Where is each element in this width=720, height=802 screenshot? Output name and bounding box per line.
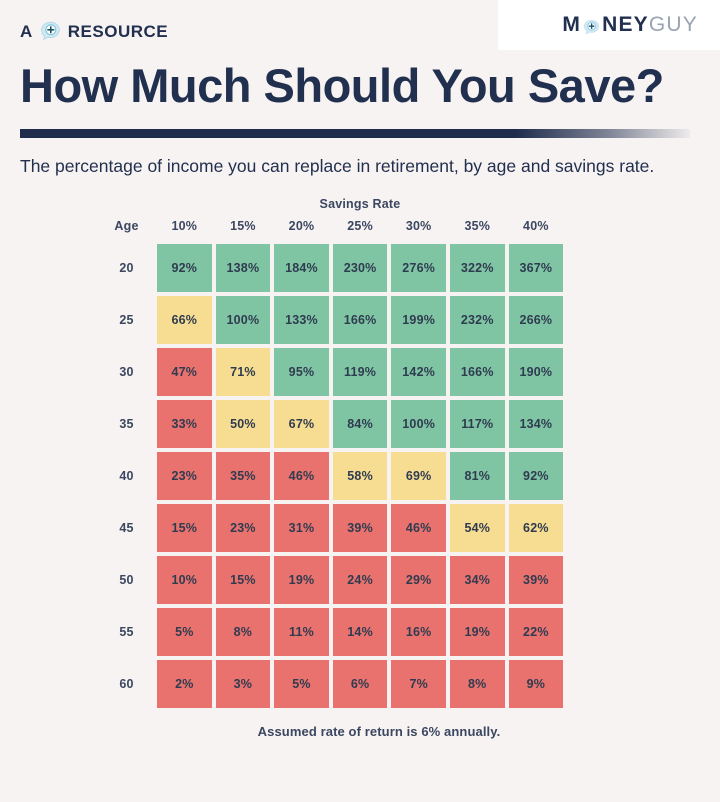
heatmap-cell: 39% xyxy=(507,554,566,606)
resource-tag-a: A xyxy=(20,22,33,42)
heatmap-cell: 232% xyxy=(448,294,507,346)
heatmap-cell: 24% xyxy=(331,554,390,606)
row-header-age-50: 50 xyxy=(98,554,155,606)
brand-letters-ney: NEY xyxy=(602,13,649,37)
heatmap-cell: 5% xyxy=(155,606,214,658)
heatmap-cell: 100% xyxy=(389,398,448,450)
heatmap-cell: 100% xyxy=(214,294,273,346)
heatmap-cell: 50% xyxy=(214,398,273,450)
heatmap-cell: 69% xyxy=(389,450,448,502)
heatmap-grid: Age10%15%20%25%30%35%40%2092%138%184%230… xyxy=(98,219,720,710)
page-subtitle: The percentage of income you can replace… xyxy=(20,155,680,179)
heatmap-cell: 47% xyxy=(155,346,214,398)
title-divider xyxy=(20,129,690,138)
heatmap-cell: 133% xyxy=(272,294,331,346)
heatmap-cell: 8% xyxy=(214,606,273,658)
savings-heatmap: Savings Rate Age10%15%20%25%30%35%40%209… xyxy=(0,197,720,739)
column-header-25: 25% xyxy=(331,219,390,242)
heatmap-cell: 322% xyxy=(448,242,507,294)
heatmap-cell: 6% xyxy=(331,658,390,710)
heatmap-cell: 11% xyxy=(272,606,331,658)
heatmap-cell: 46% xyxy=(272,450,331,502)
row-header-age-40: 40 xyxy=(98,450,155,502)
heatmap-cell: 166% xyxy=(331,294,390,346)
savings-rate-axis-label: Savings Rate xyxy=(155,197,565,211)
heatmap-cell: 184% xyxy=(272,242,331,294)
column-header-40: 40% xyxy=(507,219,566,242)
row-header-age-35: 35 xyxy=(98,398,155,450)
heatmap-cell: 15% xyxy=(214,554,273,606)
brand-letter-m: M xyxy=(562,13,581,37)
column-header-30: 30% xyxy=(389,219,448,242)
heatmap-cell: 19% xyxy=(272,554,331,606)
heatmap-cell: 23% xyxy=(155,450,214,502)
resource-tag-label: RESOURCE xyxy=(68,22,168,42)
heatmap-cell: 39% xyxy=(331,502,390,554)
heatmap-cell: 142% xyxy=(389,346,448,398)
column-header-35: 35% xyxy=(448,219,507,242)
heatmap-cell: 2% xyxy=(155,658,214,710)
heatmap-cell: 230% xyxy=(331,242,390,294)
heatmap-cell: 29% xyxy=(389,554,448,606)
row-header-age-25: 25 xyxy=(98,294,155,346)
heatmap-cell: 33% xyxy=(155,398,214,450)
heatmap-cell: 134% xyxy=(507,398,566,450)
heatmap-cell: 190% xyxy=(507,346,566,398)
heatmap-cell: 367% xyxy=(507,242,566,294)
heatmap-cell: 166% xyxy=(448,346,507,398)
heatmap-cell: 119% xyxy=(331,346,390,398)
row-header-age-45: 45 xyxy=(98,502,155,554)
column-header-age: Age xyxy=(98,219,155,242)
heatmap-cell: 71% xyxy=(214,346,273,398)
moneyguy-logo[interactable]: M NEY GUY xyxy=(562,13,698,37)
heatmap-cell: 10% xyxy=(155,554,214,606)
heatmap-cell: 92% xyxy=(507,450,566,502)
heatmap-cell: 276% xyxy=(389,242,448,294)
heatmap-cell: 31% xyxy=(272,502,331,554)
heatmap-cell: 34% xyxy=(448,554,507,606)
a-resource-tag: A RESOURCE xyxy=(20,20,168,43)
heatmap-cell: 23% xyxy=(214,502,273,554)
row-header-age-30: 30 xyxy=(98,346,155,398)
heatmap-cell: 9% xyxy=(507,658,566,710)
heatmap-cell: 266% xyxy=(507,294,566,346)
heatmap-cell: 58% xyxy=(331,450,390,502)
heatmap-cell: 67% xyxy=(272,398,331,450)
brand-letters-guy: GUY xyxy=(649,13,698,37)
heatmap-cell: 19% xyxy=(448,606,507,658)
heatmap-cell: 7% xyxy=(389,658,448,710)
heatmap-cell: 95% xyxy=(272,346,331,398)
heatmap-cell: 8% xyxy=(448,658,507,710)
column-header-15: 15% xyxy=(214,219,273,242)
heatmap-cell: 15% xyxy=(155,502,214,554)
row-header-age-60: 60 xyxy=(98,658,155,710)
heatmap-cell: 54% xyxy=(448,502,507,554)
page-title: How Much Should You Save? xyxy=(0,56,720,111)
row-header-age-20: 20 xyxy=(98,242,155,294)
heatmap-cell: 199% xyxy=(389,294,448,346)
heatmap-cell: 14% xyxy=(331,606,390,658)
heatmap-cell: 92% xyxy=(155,242,214,294)
heatmap-cell: 22% xyxy=(507,606,566,658)
page-header: A RESOURCE M NEY GUY xyxy=(0,0,720,56)
heatmap-cell: 117% xyxy=(448,398,507,450)
heatmap-cell: 46% xyxy=(389,502,448,554)
column-header-20: 20% xyxy=(272,219,331,242)
row-header-age-55: 55 xyxy=(98,606,155,658)
column-header-10: 10% xyxy=(155,219,214,242)
heatmap-cell: 16% xyxy=(389,606,448,658)
heatmap-cell: 66% xyxy=(155,294,214,346)
heatmap-cell: 3% xyxy=(214,658,273,710)
heatmap-cell: 138% xyxy=(214,242,273,294)
chart-footnote: Assumed rate of return is 6% annually. xyxy=(98,724,720,739)
heatmap-cell: 62% xyxy=(507,502,566,554)
money-guy-o-icon xyxy=(582,18,601,37)
heatmap-cell: 5% xyxy=(272,658,331,710)
heatmap-cell: 81% xyxy=(448,450,507,502)
speech-bubble-plus-icon xyxy=(39,20,62,43)
heatmap-cell: 84% xyxy=(331,398,390,450)
heatmap-cell: 35% xyxy=(214,450,273,502)
